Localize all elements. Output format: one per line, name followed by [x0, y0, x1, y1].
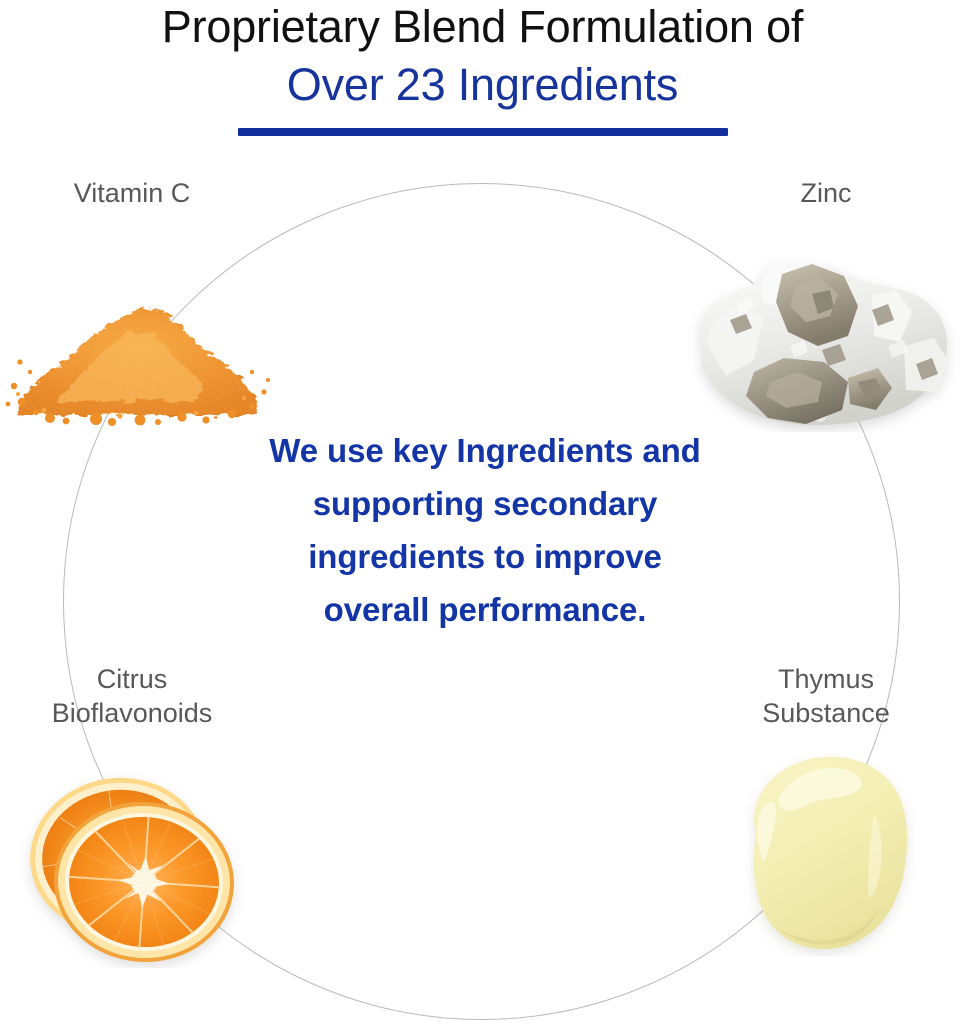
node-label-vitamin-c: Vitamin C [22, 176, 242, 210]
node-label-citrus: Citrus Bioflavonoids [12, 662, 252, 730]
page-title-line-1: Proprietary Blend Formulation of [0, 2, 965, 52]
title-underline-bar [238, 128, 728, 136]
center-statement: We use key Ingredients and supporting se… [255, 424, 715, 636]
node-label-thymus: Thymus Substance [706, 662, 946, 730]
page-header: Proprietary Blend Formulation of Over 23… [0, 0, 965, 136]
page-title-line-2: Over 23 Ingredients [0, 60, 965, 110]
node-label-zinc: Zinc [716, 176, 936, 210]
